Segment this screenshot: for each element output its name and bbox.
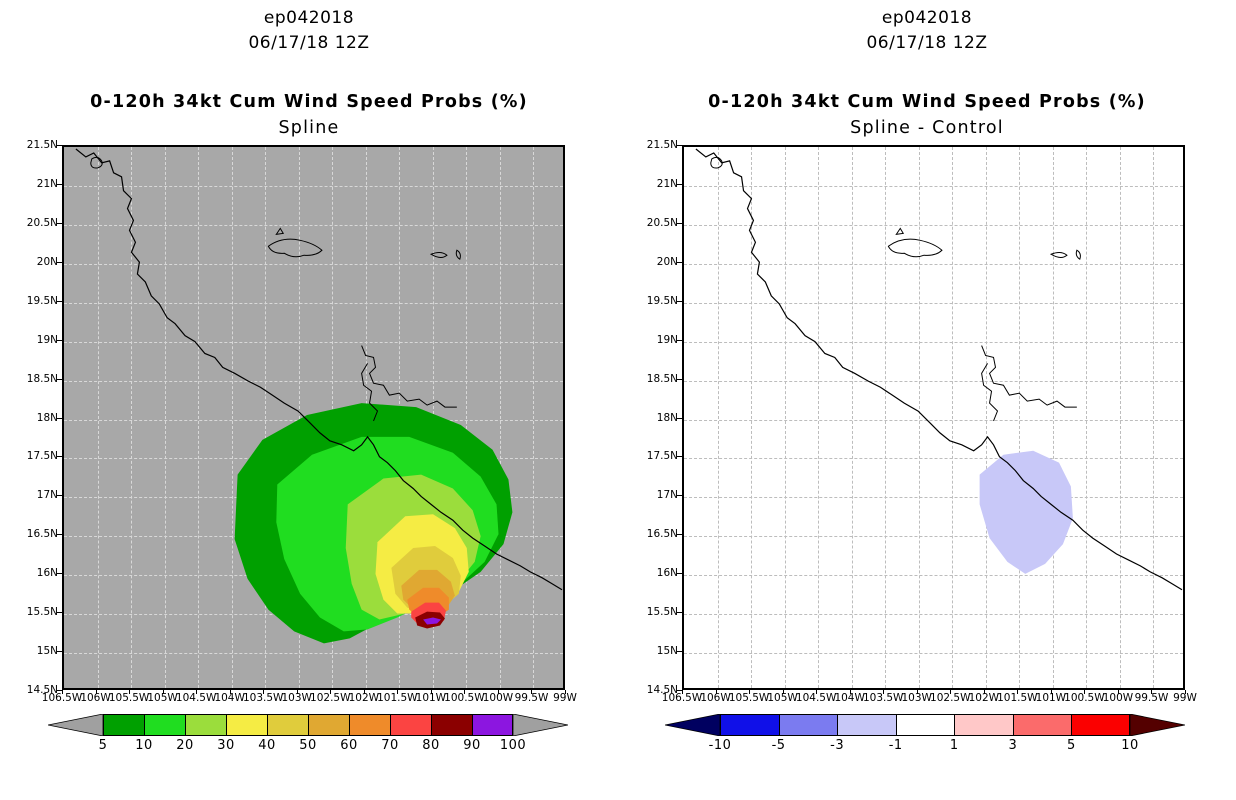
y-axis-tick (57, 301, 62, 302)
x-axis-tick (196, 690, 197, 694)
y-axis-label: 16N (37, 568, 58, 579)
x-axis-tick (1051, 690, 1052, 694)
y-axis-tick (57, 418, 62, 419)
colorbar-tick-label: -1 (889, 738, 903, 753)
x-axis-tick (397, 690, 398, 694)
colorbar-tick-label: 100 (500, 738, 526, 753)
x-axis-label: 101W (1036, 693, 1066, 704)
island-outline-r4 (1076, 250, 1080, 259)
x-axis-label: 101W (416, 693, 446, 704)
colorbar-tick-label: 10 (135, 738, 153, 753)
y-axis-label: 15.5N (27, 607, 58, 618)
y-axis-tick (677, 612, 682, 613)
y-axis-label: 18N (657, 412, 678, 423)
x-axis-tick (749, 690, 750, 694)
colorbar-probability[interactable]: 5102030405060708090100 (48, 714, 568, 736)
y-axis-label: 19N (37, 334, 58, 345)
x-axis-tick (783, 690, 784, 694)
x-axis-tick (163, 690, 164, 694)
lake-chapala-icon-right (711, 157, 722, 168)
colorbar-tick-label: 60 (340, 738, 358, 753)
panel-spline-control: ep042018 06/17/18 12Z 0-120h 34kt Cum Wi… (618, 0, 1236, 800)
y-axis-label: 19.5N (27, 295, 58, 306)
lake-chapala-icon (91, 157, 102, 168)
x-axis-tick (263, 690, 264, 694)
colorbar-tick-label: 80 (422, 738, 440, 753)
colorbar-segment (837, 714, 896, 736)
x-axis-tick (1185, 690, 1186, 694)
y-axis-label: 20.5N (647, 218, 678, 229)
x-axis-label: 103.5W (243, 693, 283, 704)
x-axis-tick (129, 690, 130, 694)
colorbar-ticklabels-left: 5102030405060708090100 (103, 738, 513, 754)
x-axis-tick (1017, 690, 1018, 694)
colorbar-over-cap-right (1130, 714, 1185, 736)
colorbar-tick-label: 40 (258, 738, 276, 753)
map-plot-spline[interactable]: 21.5N21N20.5N20N19.5N19N18.5N18N17.5N17N… (62, 145, 565, 690)
y-axis-label: 16N (657, 568, 678, 579)
y-axis-tick (57, 651, 62, 652)
y-axis-label: 16.5N (27, 529, 58, 540)
colorbar-tick-label: 3 (1008, 738, 1017, 753)
colorbar-segment (896, 714, 955, 736)
x-axis-tick (716, 690, 717, 694)
colorbar-difference[interactable]: -10-5-3-113510 (665, 714, 1185, 736)
colorbar-tick-label: 30 (217, 738, 235, 753)
screenshot-root: ep042018 06/17/18 12Z 0-120h 34kt Cum Wi… (0, 0, 1236, 800)
colorbar-segment (720, 714, 779, 736)
y-axis-tick (57, 495, 62, 496)
x-axis-tick (816, 690, 817, 694)
y-axis-label: 20N (37, 257, 58, 268)
island-outline-4 (456, 250, 460, 259)
colorbar-tick-label: 70 (381, 738, 399, 753)
x-axis-label: 100.5W (444, 693, 484, 704)
x-axis-label: 105W (767, 693, 797, 704)
y-axis-tick (57, 456, 62, 457)
x-axis-tick (330, 690, 331, 694)
inland-water-network-right (982, 346, 1077, 421)
x-axis-label: 104.5W (176, 693, 216, 704)
x-axis-label: 99W (553, 693, 577, 704)
colorbar-tick-label: -10 (709, 738, 732, 753)
contour-overlay-right (684, 147, 1183, 688)
map-frame-left (62, 145, 565, 690)
colorbar-segment (267, 714, 308, 736)
x-axis-label: 101.5W (997, 693, 1037, 704)
y-axis-label: 20N (657, 257, 678, 268)
y-axis-tick (677, 534, 682, 535)
y-axis-tick (677, 301, 682, 302)
x-axis-label: 106W (80, 693, 110, 704)
x-axis-label: 103.5W (863, 693, 903, 704)
y-axis-label: 17.5N (27, 451, 58, 462)
colorbar-tick-label: 1 (950, 738, 959, 753)
y-axis-tick (57, 340, 62, 341)
y-axis-label: 16.5N (647, 529, 678, 540)
y-axis-tick (677, 456, 682, 457)
x-axis-tick (96, 690, 97, 694)
colorbar-tick-label: 20 (176, 738, 194, 753)
x-axis-tick (883, 690, 884, 694)
colorbar-under-cap-left (48, 714, 103, 736)
x-axis-label: 102.5W (310, 693, 350, 704)
x-axis-tick (230, 690, 231, 694)
y-axis-label: 17N (37, 490, 58, 501)
colorbar-tick-label: 5 (1067, 738, 1076, 753)
y-axis-label: 19.5N (647, 295, 678, 306)
y-axis-tick (57, 573, 62, 574)
x-axis-label: 101.5W (377, 693, 417, 704)
colorbar-segment (390, 714, 431, 736)
colorbar-tick-label: 5 (99, 738, 108, 753)
y-axis-tick (57, 223, 62, 224)
x-axis-label: 100W (1103, 693, 1133, 704)
colorbar-tick-label: 10 (1121, 738, 1139, 753)
y-axis-label: 15.5N (647, 607, 678, 618)
x-axis-label: 100.5W (1064, 693, 1104, 704)
colorbar-segment (1071, 714, 1130, 736)
colorbar-segment (1013, 714, 1072, 736)
y-axis-label: 18N (37, 412, 58, 423)
island-outline-2 (268, 239, 322, 257)
y-axis-label: 21.5N (27, 140, 58, 151)
colorbar-tick-label: 90 (463, 738, 481, 753)
product-title-left: 0-120h 34kt Cum Wind Speed Probs (%) (0, 92, 618, 112)
y-axis-tick (677, 340, 682, 341)
colorbar-segments-left (103, 714, 513, 736)
island-outline-r3 (1051, 252, 1067, 257)
y-axis-tick (57, 379, 62, 380)
coastline-right (696, 149, 1182, 590)
x-axis-label: 106.5W (662, 693, 702, 704)
x-axis-tick (531, 690, 532, 694)
y-axis-label: 15N (37, 646, 58, 657)
y-axis-tick (677, 184, 682, 185)
y-axis-label: 20.5N (27, 218, 58, 229)
y-axis-label: 21.5N (647, 140, 678, 151)
island-outline-r2 (888, 239, 942, 257)
y-axis-tick (677, 262, 682, 263)
x-axis-label: 99.5W (1135, 693, 1169, 704)
y-axis-label: 18.5N (27, 373, 58, 384)
x-axis-tick (565, 690, 566, 694)
colorbar-over-cap-left (513, 714, 568, 736)
x-axis-label: 103W (282, 693, 312, 704)
y-axis-tick (57, 145, 62, 146)
colorbar-segment (226, 714, 267, 736)
x-axis-tick (1151, 690, 1152, 694)
x-axis-tick (850, 690, 851, 694)
y-axis-label: 21N (657, 179, 678, 190)
x-axis-label: 104.5W (796, 693, 836, 704)
contour-overlay-left (64, 147, 563, 688)
x-axis-tick (431, 690, 432, 694)
x-axis-label: 105.5W (729, 693, 769, 704)
y-axis-label: 15N (657, 646, 678, 657)
map-plot-difference[interactable]: 21.5N21N20.5N20N19.5N19N18.5N18N17.5N17N… (682, 145, 1185, 690)
y-axis-tick (57, 534, 62, 535)
y-axis-tick (57, 262, 62, 263)
y-axis-tick (677, 651, 682, 652)
colorbar-under-cap-right (665, 714, 720, 736)
colorbar-segments-right (720, 714, 1130, 736)
x-axis-label: 102W (349, 693, 379, 704)
y-axis-tick (677, 145, 682, 146)
y-axis-tick (677, 418, 682, 419)
x-axis-label: 106.5W (42, 693, 82, 704)
x-axis-label: 104W (834, 693, 864, 704)
x-axis-label: 104W (214, 693, 244, 704)
x-axis-tick (917, 690, 918, 694)
x-axis-label: 99.5W (515, 693, 549, 704)
x-axis-tick (62, 690, 63, 694)
x-axis-label: 105.5W (109, 693, 149, 704)
x-axis-tick (984, 690, 985, 694)
colorbar-segment (431, 714, 472, 736)
x-axis-tick (1084, 690, 1085, 694)
x-axis-tick (464, 690, 465, 694)
y-axis-label: 17.5N (647, 451, 678, 462)
forecast-datetime-left: 06/17/18 12Z (0, 33, 618, 53)
colorbar-tick-label: 50 (299, 738, 317, 753)
x-axis-label: 103W (902, 693, 932, 704)
y-axis-tick (677, 573, 682, 574)
colorbar-segment (349, 714, 390, 736)
island-outline-3 (431, 252, 447, 257)
y-axis-label: 17N (657, 490, 678, 501)
x-axis-tick (297, 690, 298, 694)
x-axis-tick (498, 690, 499, 694)
colorbar-segment (472, 714, 513, 736)
panel-subtitle-left: Spline (0, 118, 618, 138)
x-axis-tick (682, 690, 683, 694)
contour-diff-minus1 (980, 451, 1073, 574)
y-axis-tick (677, 223, 682, 224)
colorbar-ticklabels-right: -10-5-3-113510 (720, 738, 1130, 754)
y-axis-tick (57, 612, 62, 613)
y-axis-label: 18.5N (647, 373, 678, 384)
colorbar-segment (185, 714, 226, 736)
colorbar-segment (954, 714, 1013, 736)
x-axis-label: 100W (483, 693, 513, 704)
x-axis-label: 102.5W (930, 693, 970, 704)
x-axis-tick (950, 690, 951, 694)
x-axis-label: 105W (147, 693, 177, 704)
storm-id-right: ep042018 (618, 8, 1236, 28)
map-frame-right (682, 145, 1185, 690)
colorbar-tick-label: -5 (772, 738, 786, 753)
x-axis-label: 102W (969, 693, 999, 704)
product-title-right: 0-120h 34kt Cum Wind Speed Probs (%) (618, 92, 1236, 112)
forecast-datetime-right: 06/17/18 12Z (618, 33, 1236, 53)
storm-id-left: ep042018 (0, 8, 618, 28)
x-axis-tick (1118, 690, 1119, 694)
colorbar-segment (144, 714, 185, 736)
y-axis-label: 21N (37, 179, 58, 190)
y-axis-tick (677, 379, 682, 380)
colorbar-segment (308, 714, 349, 736)
y-axis-tick (677, 495, 682, 496)
panel-spline: ep042018 06/17/18 12Z 0-120h 34kt Cum Wi… (0, 0, 618, 800)
y-axis-label: 19N (657, 334, 678, 345)
island-outline-r1 (896, 228, 903, 234)
x-axis-label: 106W (700, 693, 730, 704)
panel-subtitle-right: Spline - Control (618, 118, 1236, 138)
island-outline-1 (276, 228, 283, 234)
colorbar-segment (103, 714, 144, 736)
y-axis-tick (57, 184, 62, 185)
x-axis-label: 99W (1173, 693, 1197, 704)
colorbar-segment (779, 714, 838, 736)
x-axis-tick (364, 690, 365, 694)
colorbar-tick-label: -3 (830, 738, 844, 753)
